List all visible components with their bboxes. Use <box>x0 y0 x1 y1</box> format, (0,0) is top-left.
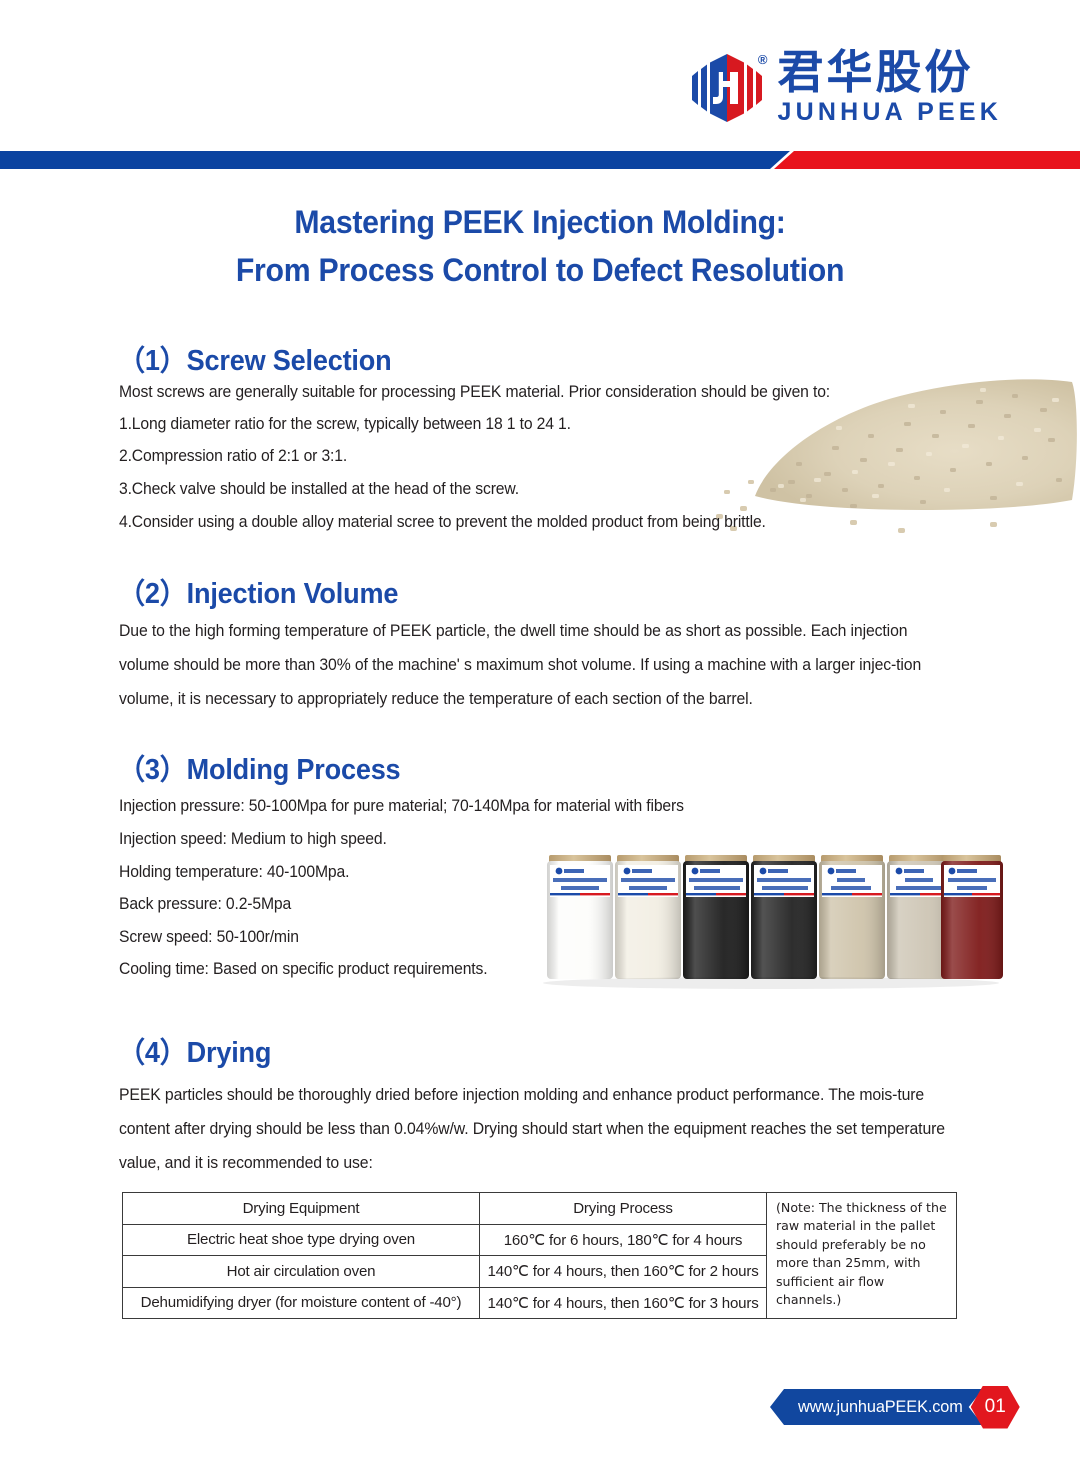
table-cell-process-2: 140℃ for 4 hours, then 160℃ for 2 hours <box>480 1256 767 1288</box>
table-row: Electric heat shoe type drying oven 160℃… <box>123 1224 767 1256</box>
section-1-line-0: Most screws are generally suitable for p… <box>119 383 830 402</box>
section-3-line-3: Back pressure: 0.2-5Mpa <box>119 895 291 914</box>
brand-name-cn: 君华股份 <box>778 48 1002 96</box>
drying-table: Drying Equipment Drying Process Electric… <box>122 1192 767 1319</box>
section-1-line-2: 2.Compression ratio of 2:1 or 3:1. <box>119 447 347 466</box>
table-row: Hot air circulation oven 140℃ for 4 hour… <box>123 1256 767 1288</box>
banner-blue-segment <box>0 151 790 169</box>
table-note: (Note: The thickness of the raw material… <box>767 1192 957 1319</box>
page-title: Mastering PEEK Injection Molding: From P… <box>38 198 1042 294</box>
page-header: ® 君华股份 JUNHUA PEEK <box>0 0 1080 151</box>
page-title-line-2: From Process Control to Defect Resolutio… <box>38 246 1042 294</box>
table-cell-equipment-2: Hot air circulation oven <box>123 1256 480 1288</box>
section-3-line-5: Cooling time: Based on specific product … <box>119 960 487 979</box>
drying-table-wrapper: Drying Equipment Drying Process Electric… <box>122 1192 957 1319</box>
table-cell-equipment-3: Dehumidifying dryer (for moisture conten… <box>123 1287 480 1319</box>
section-3-line-1: Injection speed: Medium to high speed. <box>119 830 387 849</box>
page-number: 01 <box>985 1396 1006 1418</box>
junhua-logo-icon: ® <box>689 50 765 126</box>
section-heading-4: （4）Drying <box>118 1030 271 1071</box>
table-header-row: Drying Equipment Drying Process <box>123 1193 767 1225</box>
section-2-paragraph: Due to the high forming temperature of P… <box>119 614 948 716</box>
section-3-line-2: Holding temperature: 40-100Mpa. <box>119 863 349 882</box>
company-logo: ® 君华股份 JUNHUA PEEK <box>689 48 1002 129</box>
brand-name-en: JUNHUA PEEK <box>778 97 1002 128</box>
table-cell-process-1: 160℃ for 6 hours, 180℃ for 4 hours <box>480 1224 767 1256</box>
page-footer: www.junhuaPEEK.com 01 <box>770 1389 1020 1425</box>
header-divider-bar <box>0 151 1080 169</box>
table-cell-process-3: 140℃ for 4 hours, then 160℃ for 3 hours <box>480 1287 767 1319</box>
section-1-line-4: 4.Consider using a double alloy material… <box>119 513 766 532</box>
section-1-line-3: 3.Check valve should be installed at the… <box>119 480 519 499</box>
section-4-paragraph: PEEK particles should be thoroughly drie… <box>119 1078 950 1180</box>
table-row: Dehumidifying dryer (for moisture conten… <box>123 1287 767 1319</box>
section-heading-3: （3）Molding Process <box>118 747 400 788</box>
registered-mark-icon: ® <box>758 52 768 67</box>
section-heading-1: （1）Screw Selection <box>118 338 391 379</box>
table-header-equipment: Drying Equipment <box>123 1193 480 1225</box>
section-3-line-0: Injection pressure: 50-100Mpa for pure m… <box>119 797 684 816</box>
section-3-line-4: Screw speed: 50-100r/min <box>119 928 299 947</box>
page-root: ® 君华股份 JUNHUA PEEK Mastering PEEK Inject… <box>0 0 1080 1474</box>
banner-red-segment <box>774 151 1080 169</box>
table-header-process: Drying Process <box>480 1193 767 1225</box>
footer-website-url: www.junhuaPEEK.com <box>798 1398 963 1417</box>
footer-url-banner[interactable]: www.junhuaPEEK.com <box>770 1389 983 1425</box>
section-1-line-1: 1.Long diameter ratio for the screw, typ… <box>119 415 571 434</box>
page-title-line-1: Mastering PEEK Injection Molding: <box>38 198 1042 246</box>
peek-product-jars-image <box>537 833 1005 991</box>
peek-pellets-image <box>700 338 1080 538</box>
section-heading-2: （2）Injection Volume <box>118 571 398 612</box>
table-cell-equipment-1: Electric heat shoe type drying oven <box>123 1224 480 1256</box>
